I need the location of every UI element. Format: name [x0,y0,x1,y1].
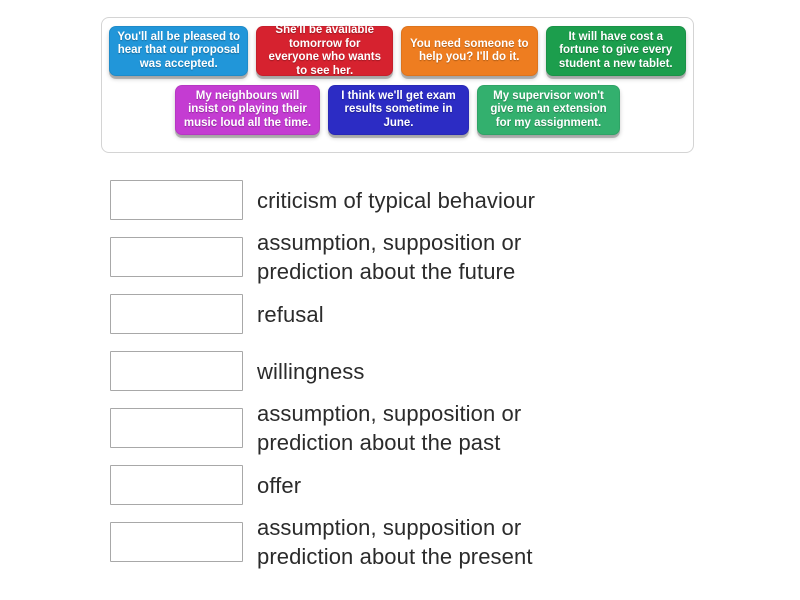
answer-drop-box[interactable] [110,408,243,448]
answer-drop-box[interactable] [110,237,243,277]
answer-tile-tray: You'll all be pleased to hear that our p… [101,17,694,153]
match-label: willingness [257,357,364,386]
tile-row-2: My neighbours will insist on playing the… [109,85,686,135]
match-label: offer [257,471,301,500]
match-row: refusal [110,289,750,339]
answer-tile[interactable]: My neighbours will insist on playing the… [175,85,320,135]
match-label: assumption, supposition or prediction ab… [257,513,533,571]
answer-tile-text: You'll all be pleased to hear that our p… [116,31,241,72]
match-label: assumption, supposition or prediction ab… [257,399,521,457]
answer-drop-box[interactable] [110,180,243,220]
answer-tile-text: She'll be available tomorrow for everyon… [263,24,386,78]
match-row: criticism of typical behaviour [110,175,750,225]
answer-drop-box[interactable] [110,351,243,391]
match-label: refusal [257,300,324,329]
answer-tile-text: It will have cost a fortune to give ever… [553,31,679,72]
match-rows-list: criticism of typical behaviour assumptio… [110,175,750,574]
answer-tile[interactable]: My supervisor won't give me an extension… [477,85,620,135]
answer-tile[interactable]: You need someone to help you? I'll do it… [401,26,538,76]
match-row: assumption, supposition or prediction ab… [110,232,750,282]
answer-tile[interactable]: I think we'll get exam results sometime … [328,85,469,135]
answer-drop-box[interactable] [110,294,243,334]
answer-tile-text: You need someone to help you? I'll do it… [408,38,531,65]
match-label: criticism of typical behaviour [257,186,535,215]
answer-tile-text: My supervisor won't give me an extension… [484,90,613,131]
match-row: assumption, supposition or prediction ab… [110,517,750,567]
tile-row-1: You'll all be pleased to hear that our p… [109,26,686,76]
match-label: assumption, supposition or prediction ab… [257,228,521,286]
match-row: willingness [110,346,750,396]
answer-tile-text: I think we'll get exam results sometime … [335,90,462,131]
answer-tile[interactable]: It will have cost a fortune to give ever… [546,26,686,76]
match-row: offer [110,460,750,510]
answer-drop-box[interactable] [110,465,243,505]
answer-tile[interactable]: She'll be available tomorrow for everyon… [256,26,393,76]
answer-drop-box[interactable] [110,522,243,562]
answer-tile[interactable]: You'll all be pleased to hear that our p… [109,26,248,76]
answer-tile-text: My neighbours will insist on playing the… [182,90,313,131]
match-row: assumption, supposition or prediction ab… [110,403,750,453]
